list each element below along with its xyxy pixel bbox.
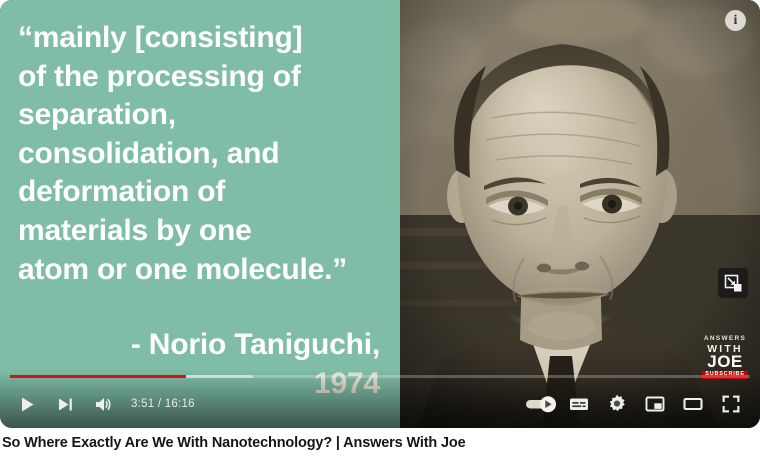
miniplayer-icon — [645, 394, 665, 414]
autoplay-toggle[interactable] — [522, 385, 560, 423]
expand-card-glyph — [724, 274, 743, 293]
theater-mode-icon — [683, 394, 703, 414]
watermark-line-joe: JOE — [702, 353, 748, 370]
quote-line: separation, — [18, 96, 388, 135]
time-display: 3:51 / 16:16 — [131, 398, 195, 410]
info-icon-glyph: i — [734, 14, 738, 28]
video-title-bar: So Where Exactly Are We With Nanotechnol… — [0, 428, 760, 458]
theater-mode-button[interactable] — [674, 385, 712, 423]
video-frame-quote-panel: “mainly [consisting] of the processing o… — [0, 0, 400, 428]
attribution-name: - Norio Taniguchi, — [18, 326, 380, 365]
subtitles-button[interactable] — [560, 385, 598, 423]
next-track-icon — [57, 396, 74, 413]
expand-card-icon[interactable] — [718, 268, 748, 298]
gear-icon — [607, 394, 627, 414]
quote-line: materials by one — [18, 212, 388, 251]
video-title[interactable]: So Where Exactly Are We With Nanotechnol… — [0, 435, 466, 451]
player-controls-bar: 3:51 / 16:16 — [0, 370, 760, 428]
settings-button[interactable] — [598, 385, 636, 423]
quote-line: atom or one molecule.” — [18, 251, 388, 290]
volume-button[interactable] — [84, 385, 122, 423]
info-icon[interactable]: i — [725, 10, 746, 31]
play-button[interactable] — [8, 385, 46, 423]
video-player[interactable]: “mainly [consisting] of the processing o… — [0, 0, 760, 428]
watermark-line-answers: ANSWERS — [702, 336, 748, 343]
closed-captions-icon — [569, 394, 589, 414]
progress-played — [10, 375, 186, 378]
fullscreen-icon — [721, 394, 741, 414]
controls-row: 3:51 / 16:16 — [0, 384, 760, 424]
quote-line: of the processing of — [18, 58, 388, 97]
quote-line: “mainly [consisting] — [18, 19, 388, 58]
autoplay-toggle-icon — [525, 395, 557, 413]
volume-high-icon — [94, 395, 113, 414]
controls-left-group: 3:51 / 16:16 — [8, 384, 204, 424]
quote-text: “mainly [consisting] of the processing o… — [18, 19, 388, 289]
play-icon — [19, 396, 36, 413]
progress-bar[interactable] — [10, 375, 750, 378]
next-video-button[interactable] — [46, 385, 84, 423]
controls-right-group — [522, 384, 750, 424]
quote-line: deformation of — [18, 173, 388, 212]
fullscreen-button[interactable] — [712, 385, 750, 423]
quote-line: consolidation, and — [18, 135, 388, 174]
miniplayer-button[interactable] — [636, 385, 674, 423]
